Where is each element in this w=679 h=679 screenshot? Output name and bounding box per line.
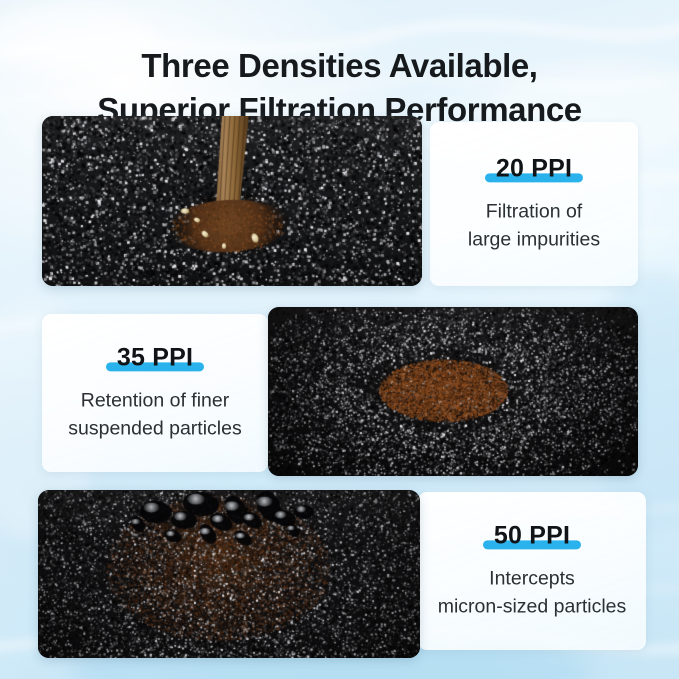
- ppi-label: 50 PPI: [490, 521, 574, 549]
- feature-desc-line-2: suspended particles: [52, 415, 258, 443]
- ppi-label: 20 PPI: [492, 154, 576, 182]
- ppi-badge-35: 35 PPI: [113, 343, 197, 372]
- feature-image-35ppi: [268, 307, 638, 476]
- feature-image-20ppi: [42, 116, 422, 286]
- feature-desc-line-1: Retention of finer: [81, 389, 230, 411]
- page-title-line-1: Three Densities Available,: [141, 47, 537, 84]
- ppi-label: 35 PPI: [113, 343, 197, 371]
- ppi-badge-20: 20 PPI: [492, 154, 576, 183]
- feature-desc-line-2: micron-sized particles: [428, 593, 636, 621]
- feature-panel-50ppi: 50 PPI Intercepts micron-sized particles: [418, 492, 646, 650]
- feature-desc-line-1: Filtration of: [486, 200, 582, 222]
- feature-description-50ppi: Intercepts micron-sized particles: [428, 565, 636, 620]
- feature-panel-35ppi: 35 PPI Retention of finer suspended part…: [42, 314, 268, 472]
- ppi-badge-50: 50 PPI: [490, 521, 574, 550]
- feature-desc-line-1: Intercepts: [489, 567, 575, 589]
- feature-desc-line-2: large impurities: [440, 226, 628, 254]
- feature-image-50ppi: [38, 490, 420, 658]
- feature-description-35ppi: Retention of finer suspended particles: [52, 387, 258, 442]
- feature-panel-20ppi: 20 PPI Filtration of large impurities: [430, 122, 638, 286]
- feature-description-20ppi: Filtration of large impurities: [440, 198, 628, 253]
